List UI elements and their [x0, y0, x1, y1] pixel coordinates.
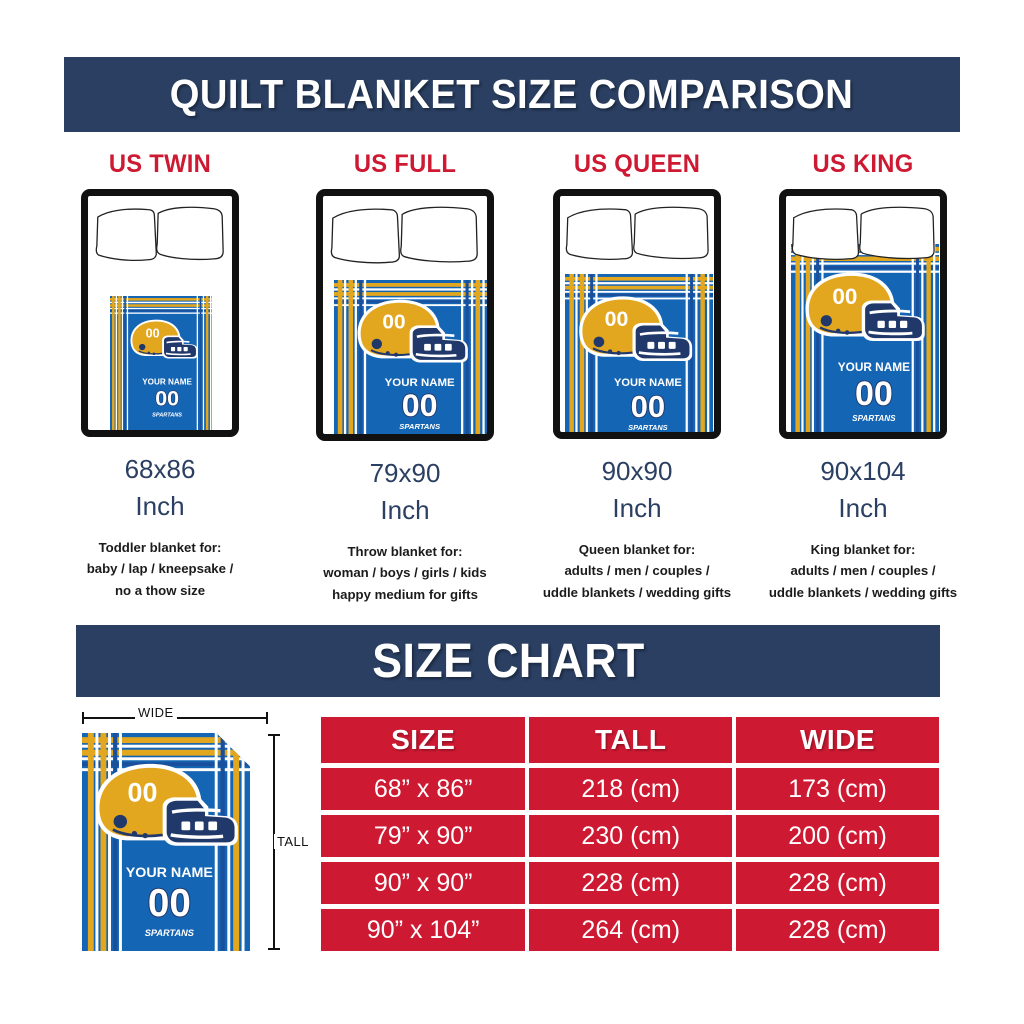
dimension-text: 79x90 Inch [290, 455, 520, 529]
cell-size: 90” x 90” [321, 862, 525, 904]
size-description: Toddler blanket for: baby / lap / kneeps… [45, 537, 275, 601]
dimension-text: 90x90 Inch [522, 453, 752, 527]
pillows-icon [323, 196, 487, 267]
svg-text:YOUR NAME: YOUR NAME [838, 360, 910, 374]
measured-blanket-diagram: WIDE TALL [72, 706, 302, 956]
size-chart-banner: SIZE CHART [76, 625, 940, 697]
dimension-value: 90x90 [602, 456, 673, 486]
blanket-artwork: 00 YOUR NAME 00 SPARTANS [791, 244, 939, 436]
cell-wide: 228 (cm) [736, 862, 939, 904]
measured-blanket-artwork: 00 YOUR NAME 00 SPARTANS [82, 733, 250, 951]
cell-wide: 228 (cm) [736, 909, 939, 951]
table-row: 90” x 104” 264 (cm) 228 (cm) [321, 909, 939, 951]
dimension-value: 79x90 [370, 458, 441, 488]
svg-text:YOUR NAME: YOUR NAME [614, 377, 682, 389]
table-row: 90” x 90” 228 (cm) 228 (cm) [321, 862, 939, 904]
column-header-tall: TALL [529, 717, 732, 763]
dimension-value: 68x86 [125, 454, 196, 484]
cell-wide: 173 (cm) [736, 768, 939, 810]
size-title: US TWIN [51, 150, 270, 179]
cell-size: 68” x 86” [321, 768, 525, 810]
svg-text:YOUR NAME: YOUR NAME [142, 378, 192, 387]
blanket-artwork: 00 YOUR NAME 00 SPARTANS [110, 296, 212, 430]
size-title: US KING [754, 150, 973, 179]
size-chart-title: SIZE CHART [372, 634, 644, 689]
dimension-unit: Inch [135, 491, 184, 521]
bed-frame: 00 YOUR NAME 00 SPARTANS [81, 189, 239, 437]
svg-text:00: 00 [128, 777, 158, 807]
svg-text:00: 00 [155, 386, 179, 410]
table-row: 79” x 90” 230 (cm) 200 (cm) [321, 815, 939, 857]
size-description: Queen blanket for: adults / men / couple… [522, 539, 752, 603]
pillows-icon [88, 196, 232, 264]
svg-text:00: 00 [402, 387, 438, 423]
top-banner: QUILT BLANKET SIZE COMPARISON [64, 57, 960, 132]
bed-frame: 00 YOUR NAME 00 SPARTANS [779, 189, 947, 439]
cell-wide: 200 (cm) [736, 815, 939, 857]
svg-text:SPARTANS: SPARTANS [399, 422, 440, 431]
svg-text:00: 00 [605, 307, 629, 331]
cell-tall: 230 (cm) [529, 815, 732, 857]
size-description: King blanket for: adults / men / couples… [748, 539, 978, 603]
table-header-row: SIZE TALL WIDE [321, 717, 939, 763]
table-row: 68” x 86” 218 (cm) 173 (cm) [321, 768, 939, 810]
size-description: Throw blanket for: woman / boys / girls … [290, 541, 520, 605]
dimension-unit: Inch [838, 493, 887, 523]
top-banner-title: QUILT BLANKET SIZE COMPARISON [170, 71, 854, 118]
bed-illustration-king: 00 YOUR NAME 00 SPARTANS [748, 189, 978, 439]
svg-text:YOUR NAME: YOUR NAME [126, 865, 213, 881]
cell-size: 90” x 104” [321, 909, 525, 951]
size-chart-table: SIZE TALL WIDE 68” x 86” 218 (cm) 173 (c… [317, 712, 943, 956]
pillows-icon [560, 196, 714, 263]
dimension-unit: Inch [612, 493, 661, 523]
bed-illustration-full: 00 YOUR NAME 00 SPARTANS [290, 189, 520, 441]
svg-text:00: 00 [148, 882, 191, 925]
bed-illustration-queen: 00 YOUR NAME 00 SPARTANS [522, 189, 752, 439]
bed-illustration-twin: 00 YOUR NAME 00 SPARTANS [45, 189, 275, 437]
svg-text:00: 00 [855, 375, 893, 413]
svg-text:SPARTANS: SPARTANS [628, 423, 668, 432]
dimension-value: 90x104 [820, 456, 905, 486]
svg-text:SPARTANS: SPARTANS [852, 414, 896, 423]
column-header-size: SIZE [321, 717, 525, 763]
cell-tall: 264 (cm) [529, 909, 732, 951]
cell-tall: 218 (cm) [529, 768, 732, 810]
size-column-king: US KING [748, 150, 978, 603]
bed-frame: 00 YOUR NAME 00 SPARTANS [316, 189, 494, 441]
svg-text:SPARTANS: SPARTANS [152, 413, 182, 419]
svg-text:00: 00 [631, 389, 666, 424]
svg-text:00: 00 [832, 284, 857, 309]
cell-tall: 228 (cm) [529, 862, 732, 904]
cell-size: 79” x 90” [321, 815, 525, 857]
pillows-icon [786, 196, 940, 263]
blanket-artwork: 00 YOUR NAME 00 SPARTANS [565, 274, 713, 436]
wide-label: WIDE [135, 705, 177, 720]
dimension-text: 68x86 Inch [45, 451, 275, 525]
tall-label: TALL [274, 834, 312, 849]
size-column-full: US FULL [290, 150, 520, 605]
dimension-unit: Inch [380, 495, 429, 525]
svg-text:00: 00 [146, 325, 160, 340]
size-comparison-infographic: QUILT BLANKET SIZE COMPARISON US TWIN [0, 0, 1024, 1024]
bed-frame: 00 YOUR NAME 00 SPARTANS [553, 189, 721, 439]
blanket-artwork: 00 YOUR NAME 00 SPARTANS [334, 280, 487, 435]
dimension-text: 90x104 Inch [748, 453, 978, 527]
svg-text:00: 00 [382, 311, 405, 334]
size-title: US QUEEN [528, 150, 747, 179]
size-column-twin: US TWIN [45, 150, 275, 601]
svg-text:SPARTANS: SPARTANS [145, 928, 195, 938]
size-column-queen: US QUEEN [522, 150, 752, 603]
column-header-wide: WIDE [736, 717, 939, 763]
size-title: US FULL [296, 150, 515, 179]
